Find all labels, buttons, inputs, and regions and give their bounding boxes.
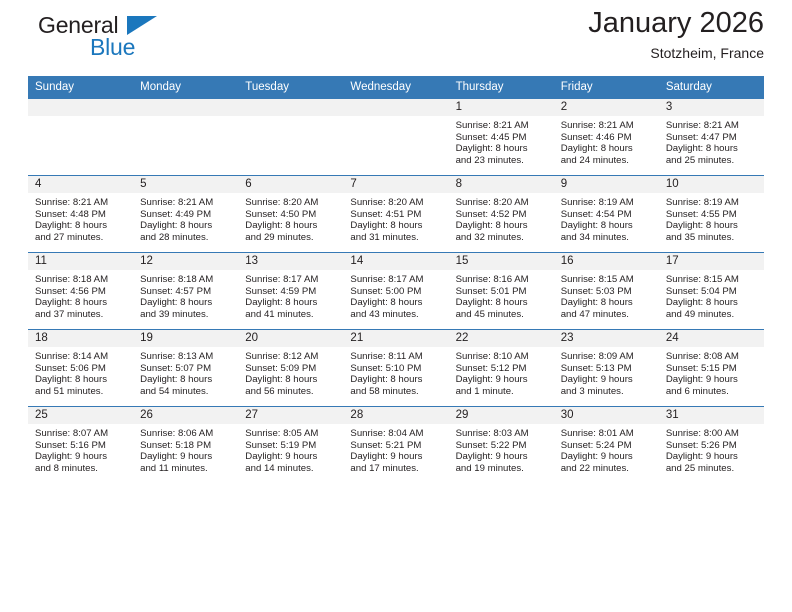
sunrise-text: Sunrise: 8:17 AM bbox=[350, 274, 442, 286]
calendar-cell-inner: 4Sunrise: 8:21 AMSunset: 4:48 PMDaylight… bbox=[28, 176, 133, 252]
daylight-text-line2: and 25 minutes. bbox=[666, 155, 758, 167]
sunset-text: Sunset: 4:51 PM bbox=[350, 209, 442, 221]
calendar-cell-day[interactable]: 1Sunrise: 8:21 AMSunset: 4:45 PMDaylight… bbox=[449, 99, 554, 176]
day-details: Sunrise: 8:20 AMSunset: 4:52 PMDaylight:… bbox=[449, 193, 554, 244]
calendar-week-row: 18Sunrise: 8:14 AMSunset: 5:06 PMDayligh… bbox=[28, 330, 764, 407]
sunrise-text: Sunrise: 8:20 AM bbox=[245, 197, 337, 209]
day-details: Sunrise: 8:19 AMSunset: 4:54 PMDaylight:… bbox=[554, 193, 659, 244]
daylight-text-line2: and 14 minutes. bbox=[245, 463, 337, 475]
calendar-cell-inner: 19Sunrise: 8:13 AMSunset: 5:07 PMDayligh… bbox=[133, 330, 238, 406]
calendar-cell-inner bbox=[133, 99, 238, 175]
sunrise-text: Sunrise: 8:10 AM bbox=[456, 351, 548, 363]
day-number: 3 bbox=[659, 99, 764, 116]
calendar-cell-inner: 21Sunrise: 8:11 AMSunset: 5:10 PMDayligh… bbox=[343, 330, 448, 406]
daylight-text-line2: and 3 minutes. bbox=[561, 386, 653, 398]
calendar-cell-empty bbox=[238, 99, 343, 176]
sunset-text: Sunset: 5:21 PM bbox=[350, 440, 442, 452]
sunrise-text: Sunrise: 8:21 AM bbox=[456, 120, 548, 132]
calendar-cell-inner: 9Sunrise: 8:19 AMSunset: 4:54 PMDaylight… bbox=[554, 176, 659, 252]
day-number: 11 bbox=[28, 253, 133, 270]
sunrise-text: Sunrise: 8:07 AM bbox=[35, 428, 127, 440]
sunset-text: Sunset: 5:18 PM bbox=[140, 440, 232, 452]
daylight-text-line1: Daylight: 8 hours bbox=[561, 297, 653, 309]
weekday-header-saturday: Saturday bbox=[659, 76, 764, 99]
day-number: 6 bbox=[238, 176, 343, 193]
calendar-cell-inner bbox=[238, 99, 343, 175]
calendar-cell-day[interactable]: 22Sunrise: 8:10 AMSunset: 5:12 PMDayligh… bbox=[449, 330, 554, 407]
daylight-text-line2: and 34 minutes. bbox=[561, 232, 653, 244]
daylight-text-line1: Daylight: 8 hours bbox=[561, 220, 653, 232]
calendar-cell-day[interactable]: 25Sunrise: 8:07 AMSunset: 5:16 PMDayligh… bbox=[28, 407, 133, 484]
calendar-cell-inner: 24Sunrise: 8:08 AMSunset: 5:15 PMDayligh… bbox=[659, 330, 764, 406]
daylight-text-line2: and 23 minutes. bbox=[456, 155, 548, 167]
calendar-cell-empty bbox=[28, 99, 133, 176]
daylight-text-line2: and 45 minutes. bbox=[456, 309, 548, 321]
day-number bbox=[238, 99, 343, 116]
calendar-cell-day[interactable]: 20Sunrise: 8:12 AMSunset: 5:09 PMDayligh… bbox=[238, 330, 343, 407]
daylight-text-line1: Daylight: 8 hours bbox=[245, 297, 337, 309]
calendar-cell-day[interactable]: 5Sunrise: 8:21 AMSunset: 4:49 PMDaylight… bbox=[133, 176, 238, 253]
day-details: Sunrise: 8:20 AMSunset: 4:51 PMDaylight:… bbox=[343, 193, 448, 244]
day-number: 23 bbox=[554, 330, 659, 347]
calendar-cell-inner: 28Sunrise: 8:04 AMSunset: 5:21 PMDayligh… bbox=[343, 407, 448, 483]
daylight-text-line2: and 1 minute. bbox=[456, 386, 548, 398]
day-details: Sunrise: 8:08 AMSunset: 5:15 PMDaylight:… bbox=[659, 347, 764, 398]
day-details: Sunrise: 8:16 AMSunset: 5:01 PMDaylight:… bbox=[449, 270, 554, 321]
calendar-cell-inner: 2Sunrise: 8:21 AMSunset: 4:46 PMDaylight… bbox=[554, 99, 659, 175]
calendar-cell-inner: 6Sunrise: 8:20 AMSunset: 4:50 PMDaylight… bbox=[238, 176, 343, 252]
calendar-cell-day[interactable]: 30Sunrise: 8:01 AMSunset: 5:24 PMDayligh… bbox=[554, 407, 659, 484]
page-title: January 2026 bbox=[588, 6, 764, 40]
calendar-week-row: 25Sunrise: 8:07 AMSunset: 5:16 PMDayligh… bbox=[28, 407, 764, 484]
sunrise-text: Sunrise: 8:19 AM bbox=[561, 197, 653, 209]
calendar-cell-inner: 5Sunrise: 8:21 AMSunset: 4:49 PMDaylight… bbox=[133, 176, 238, 252]
sunrise-text: Sunrise: 8:04 AM bbox=[350, 428, 442, 440]
calendar-cell-inner: 23Sunrise: 8:09 AMSunset: 5:13 PMDayligh… bbox=[554, 330, 659, 406]
sunrise-text: Sunrise: 8:17 AM bbox=[245, 274, 337, 286]
calendar-cell-day[interactable]: 27Sunrise: 8:05 AMSunset: 5:19 PMDayligh… bbox=[238, 407, 343, 484]
day-details: Sunrise: 8:18 AMSunset: 4:56 PMDaylight:… bbox=[28, 270, 133, 321]
day-number: 4 bbox=[28, 176, 133, 193]
daylight-text-line2: and 56 minutes. bbox=[245, 386, 337, 398]
day-number: 30 bbox=[554, 407, 659, 424]
day-details: Sunrise: 8:04 AMSunset: 5:21 PMDaylight:… bbox=[343, 424, 448, 475]
sunrise-text: Sunrise: 8:03 AM bbox=[456, 428, 548, 440]
daylight-text-line1: Daylight: 8 hours bbox=[350, 297, 442, 309]
daylight-text-line1: Daylight: 8 hours bbox=[350, 374, 442, 386]
calendar-week-row: 1Sunrise: 8:21 AMSunset: 4:45 PMDaylight… bbox=[28, 99, 764, 176]
calendar-body: 1Sunrise: 8:21 AMSunset: 4:45 PMDaylight… bbox=[28, 99, 764, 484]
day-number: 22 bbox=[449, 330, 554, 347]
calendar-cell-inner: 15Sunrise: 8:16 AMSunset: 5:01 PMDayligh… bbox=[449, 253, 554, 329]
day-number: 27 bbox=[238, 407, 343, 424]
calendar-cell-inner: 31Sunrise: 8:00 AMSunset: 5:26 PMDayligh… bbox=[659, 407, 764, 483]
daylight-text-line2: and 22 minutes. bbox=[561, 463, 653, 475]
weekday-header-wednesday: Wednesday bbox=[343, 76, 448, 99]
calendar-cell-day[interactable]: 7Sunrise: 8:20 AMSunset: 4:51 PMDaylight… bbox=[343, 176, 448, 253]
sunset-text: Sunset: 4:47 PM bbox=[666, 132, 758, 144]
calendar-cell-inner: 30Sunrise: 8:01 AMSunset: 5:24 PMDayligh… bbox=[554, 407, 659, 483]
daylight-text-line2: and 37 minutes. bbox=[35, 309, 127, 321]
calendar-cell-day[interactable]: 24Sunrise: 8:08 AMSunset: 5:15 PMDayligh… bbox=[659, 330, 764, 407]
day-details: Sunrise: 8:21 AMSunset: 4:46 PMDaylight:… bbox=[554, 116, 659, 167]
calendar-cell-inner: 17Sunrise: 8:15 AMSunset: 5:04 PMDayligh… bbox=[659, 253, 764, 329]
calendar-cell-day[interactable]: 28Sunrise: 8:04 AMSunset: 5:21 PMDayligh… bbox=[343, 407, 448, 484]
calendar-cell-day[interactable]: 9Sunrise: 8:19 AMSunset: 4:54 PMDaylight… bbox=[554, 176, 659, 253]
daylight-text-line1: Daylight: 9 hours bbox=[245, 451, 337, 463]
daylight-text-line2: and 6 minutes. bbox=[666, 386, 758, 398]
sunrise-text: Sunrise: 8:19 AM bbox=[666, 197, 758, 209]
day-number: 15 bbox=[449, 253, 554, 270]
sunset-text: Sunset: 4:54 PM bbox=[561, 209, 653, 221]
day-number bbox=[343, 99, 448, 116]
sunrise-text: Sunrise: 8:06 AM bbox=[140, 428, 232, 440]
daylight-text-line2: and 54 minutes. bbox=[140, 386, 232, 398]
daylight-text-line1: Daylight: 8 hours bbox=[666, 220, 758, 232]
daylight-text-line1: Daylight: 9 hours bbox=[456, 374, 548, 386]
calendar-cell-day[interactable]: 15Sunrise: 8:16 AMSunset: 5:01 PMDayligh… bbox=[449, 253, 554, 330]
calendar-cell-inner: 25Sunrise: 8:07 AMSunset: 5:16 PMDayligh… bbox=[28, 407, 133, 483]
daylight-text-line2: and 31 minutes. bbox=[350, 232, 442, 244]
day-number: 20 bbox=[238, 330, 343, 347]
sunset-text: Sunset: 5:26 PM bbox=[666, 440, 758, 452]
sunset-text: Sunset: 4:49 PM bbox=[140, 209, 232, 221]
calendar-cell-day[interactable]: 18Sunrise: 8:14 AMSunset: 5:06 PMDayligh… bbox=[28, 330, 133, 407]
daylight-text-line2: and 39 minutes. bbox=[140, 309, 232, 321]
sunrise-text: Sunrise: 8:21 AM bbox=[666, 120, 758, 132]
weekday-header-thursday: Thursday bbox=[449, 76, 554, 99]
general-blue-logo[interactable]: General Blue bbox=[28, 10, 178, 66]
sunset-text: Sunset: 4:59 PM bbox=[245, 286, 337, 298]
day-number: 18 bbox=[28, 330, 133, 347]
daylight-text-line1: Daylight: 8 hours bbox=[456, 297, 548, 309]
daylight-text-line2: and 8 minutes. bbox=[35, 463, 127, 475]
day-details: Sunrise: 8:09 AMSunset: 5:13 PMDaylight:… bbox=[554, 347, 659, 398]
daylight-text-line1: Daylight: 8 hours bbox=[456, 143, 548, 155]
day-number: 10 bbox=[659, 176, 764, 193]
calendar-cell-day[interactable]: 29Sunrise: 8:03 AMSunset: 5:22 PMDayligh… bbox=[449, 407, 554, 484]
daylight-text-line1: Daylight: 9 hours bbox=[666, 374, 758, 386]
day-details: Sunrise: 8:15 AMSunset: 5:04 PMDaylight:… bbox=[659, 270, 764, 321]
daylight-text-line2: and 41 minutes. bbox=[245, 309, 337, 321]
sunrise-text: Sunrise: 8:21 AM bbox=[140, 197, 232, 209]
calendar-cell-day[interactable]: 12Sunrise: 8:18 AMSunset: 4:57 PMDayligh… bbox=[133, 253, 238, 330]
day-number: 12 bbox=[133, 253, 238, 270]
calendar-cell-empty bbox=[343, 99, 448, 176]
daylight-text-line1: Daylight: 8 hours bbox=[350, 220, 442, 232]
calendar-cell-day[interactable]: 26Sunrise: 8:06 AMSunset: 5:18 PMDayligh… bbox=[133, 407, 238, 484]
daylight-text-line1: Daylight: 8 hours bbox=[456, 220, 548, 232]
calendar-cell-inner: 14Sunrise: 8:17 AMSunset: 5:00 PMDayligh… bbox=[343, 253, 448, 329]
daylight-text-line2: and 19 minutes. bbox=[456, 463, 548, 475]
sunrise-text: Sunrise: 8:15 AM bbox=[666, 274, 758, 286]
calendar-cell-inner: 12Sunrise: 8:18 AMSunset: 4:57 PMDayligh… bbox=[133, 253, 238, 329]
calendar-cell-inner: 7Sunrise: 8:20 AMSunset: 4:51 PMDaylight… bbox=[343, 176, 448, 252]
daylight-text-line2: and 35 minutes. bbox=[666, 232, 758, 244]
sunset-text: Sunset: 5:19 PM bbox=[245, 440, 337, 452]
daylight-text-line1: Daylight: 8 hours bbox=[35, 220, 127, 232]
daylight-text-line1: Daylight: 8 hours bbox=[245, 374, 337, 386]
day-details: Sunrise: 8:12 AMSunset: 5:09 PMDaylight:… bbox=[238, 347, 343, 398]
sunrise-text: Sunrise: 8:21 AM bbox=[561, 120, 653, 132]
calendar-week-row: 11Sunrise: 8:18 AMSunset: 4:56 PMDayligh… bbox=[28, 253, 764, 330]
sunset-text: Sunset: 4:57 PM bbox=[140, 286, 232, 298]
daylight-text-line1: Daylight: 9 hours bbox=[140, 451, 232, 463]
calendar-cell-day[interactable]: 23Sunrise: 8:09 AMSunset: 5:13 PMDayligh… bbox=[554, 330, 659, 407]
daylight-text-line1: Daylight: 9 hours bbox=[350, 451, 442, 463]
sunset-text: Sunset: 4:45 PM bbox=[456, 132, 548, 144]
day-details: Sunrise: 8:07 AMSunset: 5:16 PMDaylight:… bbox=[28, 424, 133, 475]
day-details: Sunrise: 8:21 AMSunset: 4:49 PMDaylight:… bbox=[133, 193, 238, 244]
calendar-cell-inner: 20Sunrise: 8:12 AMSunset: 5:09 PMDayligh… bbox=[238, 330, 343, 406]
calendar-cell-day[interactable]: 3Sunrise: 8:21 AMSunset: 4:47 PMDaylight… bbox=[659, 99, 764, 176]
calendar-cell-day[interactable]: 14Sunrise: 8:17 AMSunset: 5:00 PMDayligh… bbox=[343, 253, 448, 330]
daylight-text-line1: Daylight: 8 hours bbox=[666, 143, 758, 155]
daylight-text-line2: and 29 minutes. bbox=[245, 232, 337, 244]
daylight-text-line1: Daylight: 8 hours bbox=[35, 297, 127, 309]
calendar-cell-day[interactable]: 17Sunrise: 8:15 AMSunset: 5:04 PMDayligh… bbox=[659, 253, 764, 330]
calendar-cell-day[interactable]: 6Sunrise: 8:20 AMSunset: 4:50 PMDaylight… bbox=[238, 176, 343, 253]
sunrise-text: Sunrise: 8:15 AM bbox=[561, 274, 653, 286]
daylight-text-line2: and 25 minutes. bbox=[666, 463, 758, 475]
day-number: 19 bbox=[133, 330, 238, 347]
sunrise-text: Sunrise: 8:20 AM bbox=[456, 197, 548, 209]
day-number: 25 bbox=[28, 407, 133, 424]
daylight-text-line1: Daylight: 9 hours bbox=[456, 451, 548, 463]
weekday-header-friday: Friday bbox=[554, 76, 659, 99]
sunrise-text: Sunrise: 8:08 AM bbox=[666, 351, 758, 363]
sunset-text: Sunset: 4:55 PM bbox=[666, 209, 758, 221]
day-number: 17 bbox=[659, 253, 764, 270]
day-details: Sunrise: 8:00 AMSunset: 5:26 PMDaylight:… bbox=[659, 424, 764, 475]
day-number: 16 bbox=[554, 253, 659, 270]
weekday-header-tuesday: Tuesday bbox=[238, 76, 343, 99]
sunset-text: Sunset: 5:00 PM bbox=[350, 286, 442, 298]
sunset-text: Sunset: 5:16 PM bbox=[35, 440, 127, 452]
title-block: January 2026 Stotzheim, France bbox=[588, 6, 764, 63]
day-number: 26 bbox=[133, 407, 238, 424]
day-details: Sunrise: 8:10 AMSunset: 5:12 PMDaylight:… bbox=[449, 347, 554, 398]
sunrise-text: Sunrise: 8:18 AM bbox=[35, 274, 127, 286]
day-number: 14 bbox=[343, 253, 448, 270]
sunset-text: Sunset: 5:13 PM bbox=[561, 363, 653, 375]
sunrise-text: Sunrise: 8:14 AM bbox=[35, 351, 127, 363]
daylight-text-line1: Daylight: 8 hours bbox=[35, 374, 127, 386]
calendar-cell-inner: 27Sunrise: 8:05 AMSunset: 5:19 PMDayligh… bbox=[238, 407, 343, 483]
daylight-text-line2: and 47 minutes. bbox=[561, 309, 653, 321]
day-details: Sunrise: 8:14 AMSunset: 5:06 PMDaylight:… bbox=[28, 347, 133, 398]
daylight-text-line2: and 28 minutes. bbox=[140, 232, 232, 244]
calendar-cell-inner: 26Sunrise: 8:06 AMSunset: 5:18 PMDayligh… bbox=[133, 407, 238, 483]
day-number: 8 bbox=[449, 176, 554, 193]
daylight-text-line2: and 17 minutes. bbox=[350, 463, 442, 475]
sunset-text: Sunset: 5:04 PM bbox=[666, 286, 758, 298]
daylight-text-line2: and 27 minutes. bbox=[35, 232, 127, 244]
day-number: 1 bbox=[449, 99, 554, 116]
day-details: Sunrise: 8:19 AMSunset: 4:55 PMDaylight:… bbox=[659, 193, 764, 244]
day-details: Sunrise: 8:13 AMSunset: 5:07 PMDaylight:… bbox=[133, 347, 238, 398]
day-details: Sunrise: 8:15 AMSunset: 5:03 PMDaylight:… bbox=[554, 270, 659, 321]
calendar-cell-day[interactable]: 19Sunrise: 8:13 AMSunset: 5:07 PMDayligh… bbox=[133, 330, 238, 407]
sunset-text: Sunset: 4:46 PM bbox=[561, 132, 653, 144]
sunrise-text: Sunrise: 8:21 AM bbox=[35, 197, 127, 209]
sunset-text: Sunset: 5:12 PM bbox=[456, 363, 548, 375]
sunrise-text: Sunrise: 8:18 AM bbox=[140, 274, 232, 286]
daylight-text-line2: and 43 minutes. bbox=[350, 309, 442, 321]
calendar-week-row: 4Sunrise: 8:21 AMSunset: 4:48 PMDaylight… bbox=[28, 176, 764, 253]
day-number bbox=[133, 99, 238, 116]
day-details: Sunrise: 8:01 AMSunset: 5:24 PMDaylight:… bbox=[554, 424, 659, 475]
daylight-text-line1: Daylight: 9 hours bbox=[561, 374, 653, 386]
daylight-text-line1: Daylight: 8 hours bbox=[140, 374, 232, 386]
logo-text-blue: Blue bbox=[90, 34, 135, 61]
day-details: Sunrise: 8:11 AMSunset: 5:10 PMDaylight:… bbox=[343, 347, 448, 398]
sunset-text: Sunset: 4:50 PM bbox=[245, 209, 337, 221]
calendar-cell-inner bbox=[28, 99, 133, 175]
calendar-cell-inner bbox=[343, 99, 448, 175]
day-details: Sunrise: 8:06 AMSunset: 5:18 PMDaylight:… bbox=[133, 424, 238, 475]
daylight-text-line1: Daylight: 8 hours bbox=[561, 143, 653, 155]
sunrise-text: Sunrise: 8:11 AM bbox=[350, 351, 442, 363]
calendar-cell-day[interactable]: 2Sunrise: 8:21 AMSunset: 4:46 PMDaylight… bbox=[554, 99, 659, 176]
page-subtitle: Stotzheim, France bbox=[588, 43, 764, 63]
calendar-cell-day[interactable]: 16Sunrise: 8:15 AMSunset: 5:03 PMDayligh… bbox=[554, 253, 659, 330]
sunset-text: Sunset: 5:06 PM bbox=[35, 363, 127, 375]
sunset-text: Sunset: 5:22 PM bbox=[456, 440, 548, 452]
calendar-cell-day[interactable]: 11Sunrise: 8:18 AMSunset: 4:56 PMDayligh… bbox=[28, 253, 133, 330]
calendar-cell-empty bbox=[133, 99, 238, 176]
daylight-text-line2: and 58 minutes. bbox=[350, 386, 442, 398]
calendar-cell-inner: 10Sunrise: 8:19 AMSunset: 4:55 PMDayligh… bbox=[659, 176, 764, 252]
sunset-text: Sunset: 5:15 PM bbox=[666, 363, 758, 375]
daylight-text-line2: and 51 minutes. bbox=[35, 386, 127, 398]
day-number: 24 bbox=[659, 330, 764, 347]
day-details: Sunrise: 8:21 AMSunset: 4:45 PMDaylight:… bbox=[449, 116, 554, 167]
sunset-text: Sunset: 5:01 PM bbox=[456, 286, 548, 298]
daylight-text-line2: and 49 minutes. bbox=[666, 309, 758, 321]
day-number: 29 bbox=[449, 407, 554, 424]
day-details: Sunrise: 8:17 AMSunset: 5:00 PMDaylight:… bbox=[343, 270, 448, 321]
sunset-text: Sunset: 5:10 PM bbox=[350, 363, 442, 375]
day-details: Sunrise: 8:03 AMSunset: 5:22 PMDaylight:… bbox=[449, 424, 554, 475]
calendar-cell-inner: 3Sunrise: 8:21 AMSunset: 4:47 PMDaylight… bbox=[659, 99, 764, 175]
calendar-cell-inner: 18Sunrise: 8:14 AMSunset: 5:06 PMDayligh… bbox=[28, 330, 133, 406]
calendar-cell-day[interactable]: 31Sunrise: 8:00 AMSunset: 5:26 PMDayligh… bbox=[659, 407, 764, 484]
day-number: 31 bbox=[659, 407, 764, 424]
sunrise-text: Sunrise: 8:12 AM bbox=[245, 351, 337, 363]
calendar-cell-day[interactable]: 4Sunrise: 8:21 AMSunset: 4:48 PMDaylight… bbox=[28, 176, 133, 253]
day-details: Sunrise: 8:21 AMSunset: 4:48 PMDaylight:… bbox=[28, 193, 133, 244]
daylight-text-line1: Daylight: 8 hours bbox=[140, 297, 232, 309]
daylight-text-line2: and 32 minutes. bbox=[456, 232, 548, 244]
day-number: 13 bbox=[238, 253, 343, 270]
calendar-cell-day[interactable]: 13Sunrise: 8:17 AMSunset: 4:59 PMDayligh… bbox=[238, 253, 343, 330]
daylight-text-line1: Daylight: 8 hours bbox=[245, 220, 337, 232]
day-details: Sunrise: 8:18 AMSunset: 4:57 PMDaylight:… bbox=[133, 270, 238, 321]
day-details: Sunrise: 8:21 AMSunset: 4:47 PMDaylight:… bbox=[659, 116, 764, 167]
sunrise-text: Sunrise: 8:01 AM bbox=[561, 428, 653, 440]
calendar-cell-inner: 29Sunrise: 8:03 AMSunset: 5:22 PMDayligh… bbox=[449, 407, 554, 483]
logo-triangle-icon bbox=[127, 16, 157, 35]
daylight-text-line1: Daylight: 9 hours bbox=[666, 451, 758, 463]
calendar-table: Sunday Monday Tuesday Wednesday Thursday… bbox=[28, 76, 764, 483]
day-details: Sunrise: 8:20 AMSunset: 4:50 PMDaylight:… bbox=[238, 193, 343, 244]
sunset-text: Sunset: 5:24 PM bbox=[561, 440, 653, 452]
daylight-text-line1: Daylight: 9 hours bbox=[35, 451, 127, 463]
calendar-cell-inner: 1Sunrise: 8:21 AMSunset: 4:45 PMDaylight… bbox=[449, 99, 554, 175]
sunset-text: Sunset: 4:48 PM bbox=[35, 209, 127, 221]
weekday-header-monday: Monday bbox=[133, 76, 238, 99]
day-number: 2 bbox=[554, 99, 659, 116]
calendar-cell-inner: 11Sunrise: 8:18 AMSunset: 4:56 PMDayligh… bbox=[28, 253, 133, 329]
daylight-text-line1: Daylight: 8 hours bbox=[666, 297, 758, 309]
daylight-text-line2: and 24 minutes. bbox=[561, 155, 653, 167]
calendar-cell-inner: 8Sunrise: 8:20 AMSunset: 4:52 PMDaylight… bbox=[449, 176, 554, 252]
calendar-cell-inner: 16Sunrise: 8:15 AMSunset: 5:03 PMDayligh… bbox=[554, 253, 659, 329]
calendar-cell-inner: 13Sunrise: 8:17 AMSunset: 4:59 PMDayligh… bbox=[238, 253, 343, 329]
page-header: General Blue January 2026 Stotzheim, Fra… bbox=[28, 0, 764, 76]
weekday-header-sunday: Sunday bbox=[28, 76, 133, 99]
calendar-page: General Blue January 2026 Stotzheim, Fra… bbox=[0, 0, 792, 612]
daylight-text-line1: Daylight: 9 hours bbox=[561, 451, 653, 463]
day-number: 7 bbox=[343, 176, 448, 193]
sunset-text: Sunset: 5:07 PM bbox=[140, 363, 232, 375]
sunset-text: Sunset: 4:56 PM bbox=[35, 286, 127, 298]
weekday-header-row: Sunday Monday Tuesday Wednesday Thursday… bbox=[28, 76, 764, 99]
sunrise-text: Sunrise: 8:16 AM bbox=[456, 274, 548, 286]
sunset-text: Sunset: 4:52 PM bbox=[456, 209, 548, 221]
daylight-text-line2: and 11 minutes. bbox=[140, 463, 232, 475]
calendar-cell-inner: 22Sunrise: 8:10 AMSunset: 5:12 PMDayligh… bbox=[449, 330, 554, 406]
day-number: 9 bbox=[554, 176, 659, 193]
sunset-text: Sunset: 5:03 PM bbox=[561, 286, 653, 298]
day-number: 21 bbox=[343, 330, 448, 347]
calendar-cell-day[interactable]: 8Sunrise: 8:20 AMSunset: 4:52 PMDaylight… bbox=[449, 176, 554, 253]
sunrise-text: Sunrise: 8:20 AM bbox=[350, 197, 442, 209]
calendar-cell-day[interactable]: 21Sunrise: 8:11 AMSunset: 5:10 PMDayligh… bbox=[343, 330, 448, 407]
daylight-text-line1: Daylight: 8 hours bbox=[140, 220, 232, 232]
sunrise-text: Sunrise: 8:13 AM bbox=[140, 351, 232, 363]
day-details: Sunrise: 8:05 AMSunset: 5:19 PMDaylight:… bbox=[238, 424, 343, 475]
day-number: 5 bbox=[133, 176, 238, 193]
calendar-cell-day[interactable]: 10Sunrise: 8:19 AMSunset: 4:55 PMDayligh… bbox=[659, 176, 764, 253]
sunrise-text: Sunrise: 8:09 AM bbox=[561, 351, 653, 363]
sunset-text: Sunset: 5:09 PM bbox=[245, 363, 337, 375]
day-number bbox=[28, 99, 133, 116]
day-details: Sunrise: 8:17 AMSunset: 4:59 PMDaylight:… bbox=[238, 270, 343, 321]
day-number: 28 bbox=[343, 407, 448, 424]
sunrise-text: Sunrise: 8:05 AM bbox=[245, 428, 337, 440]
sunrise-text: Sunrise: 8:00 AM bbox=[666, 428, 758, 440]
